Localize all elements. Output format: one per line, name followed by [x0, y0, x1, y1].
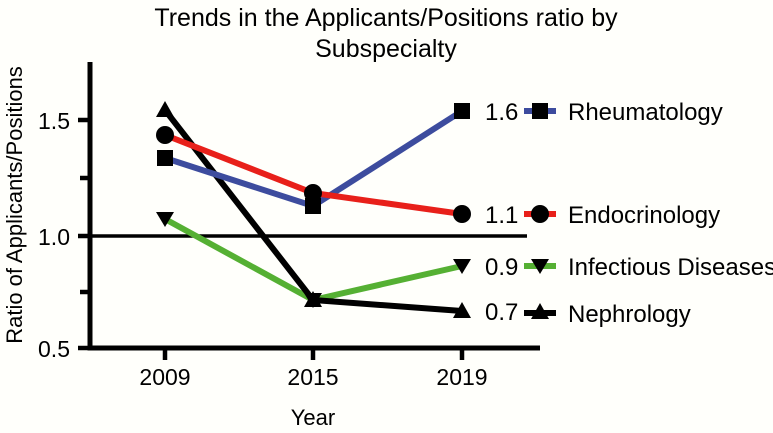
legend-marker-square-icon: [532, 103, 548, 119]
legend-item-rheumatology[interactable]: Rheumatology: [524, 99, 723, 126]
y-tick-label-0.5: 0.5: [38, 336, 70, 362]
x-tick-label-2015: 2015: [287, 364, 338, 390]
end-value-endocrinology: 1.1: [485, 202, 518, 229]
end-value-rheumatology: 1.6: [485, 99, 518, 126]
legend-marker-circle-icon: [531, 205, 549, 223]
legend-item-endocrinology[interactable]: Endocrinology: [524, 202, 720, 229]
y-tick-label-1.0: 1.0: [38, 224, 70, 250]
legend-label-nephrology: Nephrology: [568, 301, 691, 328]
markers-infectious-diseases: [156, 212, 471, 308]
chart-figure: Trends in the Applicants/Positions ratio…: [0, 0, 773, 433]
x-axis-title: Year: [291, 405, 335, 430]
y-axis-title: Ratio of Applicants/Positions: [2, 66, 27, 344]
x-tick-label-2019: 2019: [436, 364, 487, 390]
x-tick-label-2009: 2009: [139, 364, 190, 390]
chart-title-line-2: Subspecialty: [315, 35, 457, 63]
series-line-infectious-diseases: [165, 219, 462, 300]
end-value-nephrology: 0.7: [485, 299, 518, 326]
legend-label-rheumatology: Rheumatology: [568, 99, 723, 126]
line-chart: Trends in the Applicants/Positions ratio…: [0, 0, 773, 433]
legend-item-nephrology[interactable]: Nephrology: [524, 301, 691, 328]
chart-title-line-1: Trends in the Applicants/Positions ratio…: [154, 4, 618, 32]
legend-label-infectious-diseases: Infectious Diseases: [568, 254, 773, 281]
y-tick-label-1.5: 1.5: [38, 108, 70, 134]
legend-item-infectious-diseases[interactable]: Infectious Diseases: [524, 254, 773, 281]
end-value-infectious-diseases: 0.9: [485, 254, 518, 281]
legend-label-endocrinology: Endocrinology: [568, 202, 720, 229]
